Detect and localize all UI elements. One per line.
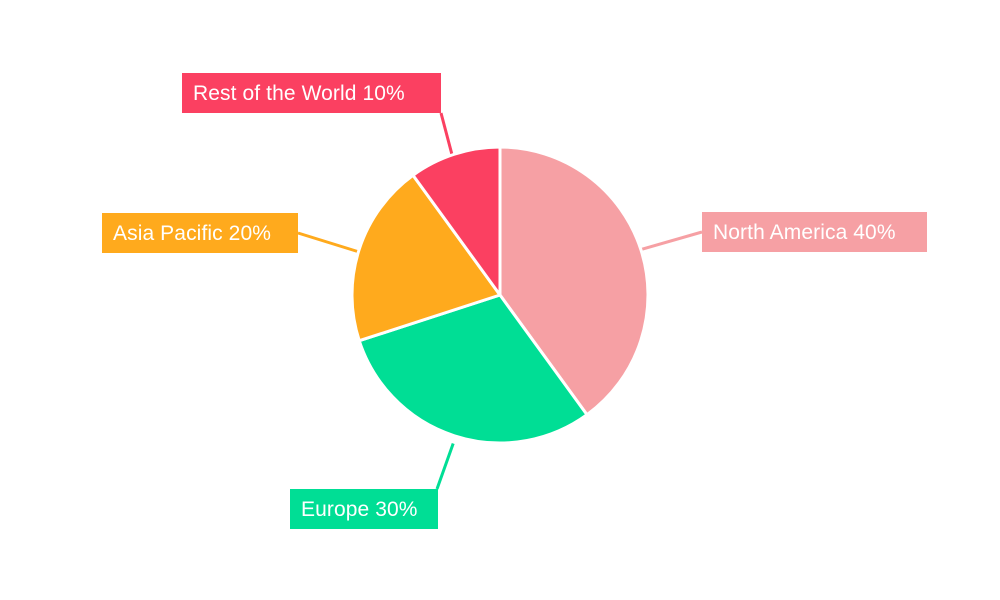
pie-label-north-america-text: North America 40% — [713, 222, 896, 243]
pie-label-north-america[interactable]: North America 40% — [702, 212, 927, 252]
pie-label-europe-text: Europe 30% — [301, 499, 418, 520]
pie-label-europe[interactable]: Europe 30% — [290, 489, 438, 529]
pie-label-asia-pacific-text: Asia Pacific 20% — [113, 223, 271, 244]
pie-chart-figure: Rest of the World 10% Asia Pacific 20% N… — [0, 0, 1000, 600]
pie-slices — [352, 147, 648, 443]
pie-label-rest-of-world-text: Rest of the World 10% — [193, 83, 405, 104]
leader-line-europe — [437, 444, 453, 490]
pie-label-rest-of-world[interactable]: Rest of the World 10% — [182, 73, 441, 113]
leader-line-asia-pacific — [298, 233, 359, 252]
pie-chart-canvas — [0, 0, 1000, 600]
pie-label-asia-pacific[interactable]: Asia Pacific 20% — [102, 213, 298, 253]
leader-line-north-america — [641, 232, 702, 250]
